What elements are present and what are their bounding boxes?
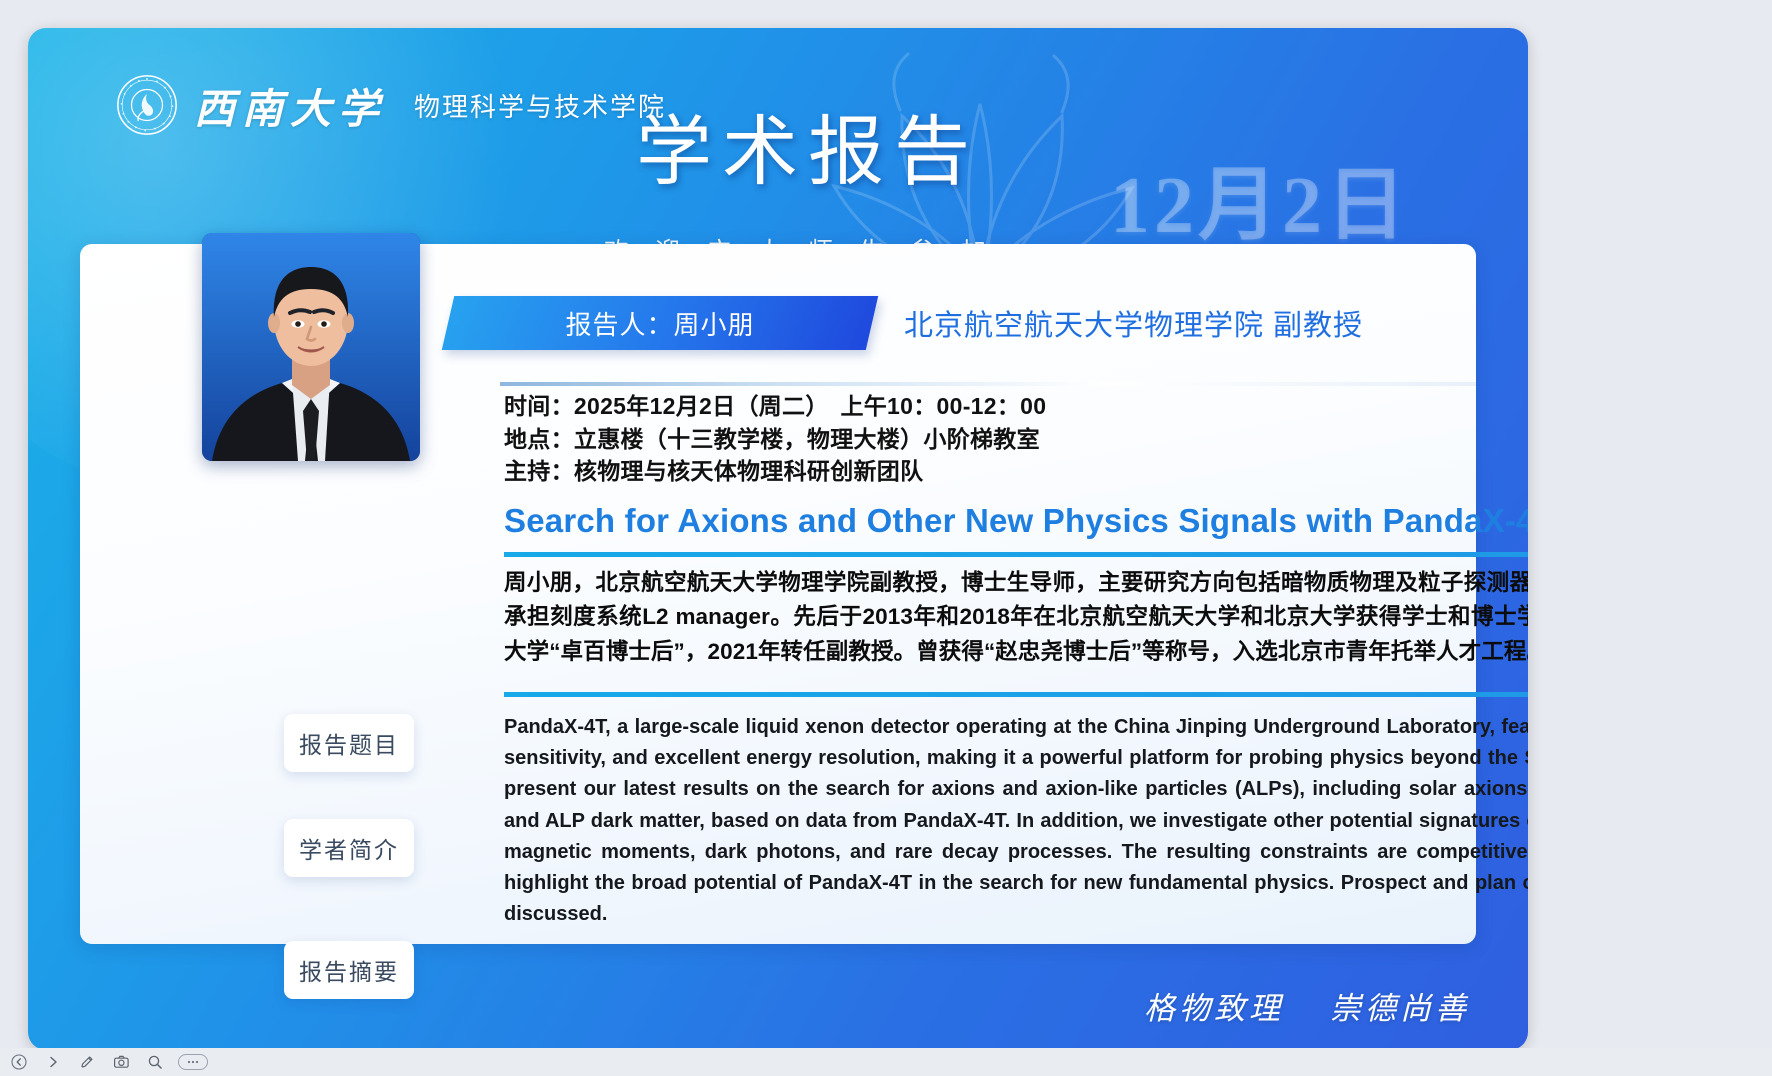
speaker-photo bbox=[202, 233, 420, 461]
motto-left: 格物致理 bbox=[1144, 983, 1284, 1028]
more-options-button[interactable] bbox=[178, 1054, 208, 1070]
camera-icon bbox=[113, 1054, 130, 1070]
content-card: 报告人：周小朋 北京航空航天大学物理学院 副教授 时间：2025年12月2日（周… bbox=[80, 244, 1476, 944]
meta-place: 地点：立惠楼（十三教学楼，物理大楼）小阶梯教室 bbox=[504, 423, 1528, 456]
tag-speaker-bio: 学者简介 bbox=[284, 819, 414, 877]
bottom-toolbar bbox=[0, 1048, 1772, 1076]
zoom-button[interactable] bbox=[144, 1051, 166, 1073]
speaker-bio: 周小朋，北京航空航天大学物理学院副教授，博士生导师，主要研究方向包括暗物质物理及… bbox=[504, 566, 1528, 669]
event-meta: 时间：2025年12月2日（周二） 上午10：00-12：00 地点：立惠楼（十… bbox=[504, 390, 1528, 488]
divider-cyan-top bbox=[504, 552, 1528, 557]
talk-abstract: PandaX-4T, a large-scale liquid xenon de… bbox=[504, 712, 1528, 930]
text-column: 时间：2025年12月2日（周二） 上午10：00-12：00 地点：立惠楼（十… bbox=[500, 244, 1476, 944]
pencil-icon bbox=[79, 1054, 95, 1070]
motto-right: 崇德尚善 bbox=[1330, 983, 1470, 1028]
document-viewer: 西南大学 物理科学与技术学院 学术报告 12月2日 欢迎广大师生参加 bbox=[0, 0, 1772, 1076]
talk-title: Search for Axions and Other New Physics … bbox=[504, 502, 1528, 540]
poster-header: 西南大学 物理科学与技术学院 学术报告 12月2日 欢迎广大师生参加 bbox=[28, 28, 1528, 260]
meta-host: 主持：核物理与核天体物理科研创新团队 bbox=[504, 455, 1528, 488]
snapshot-button[interactable] bbox=[110, 1051, 132, 1073]
tag-talk-title: 报告题目 bbox=[284, 714, 414, 772]
footer-motto: 格物致理 崇德尚善 bbox=[1144, 983, 1470, 1028]
chevron-left-icon bbox=[11, 1054, 27, 1070]
next-page-button[interactable] bbox=[42, 1051, 64, 1073]
ellipsis-icon bbox=[184, 1058, 202, 1066]
magnifier-icon bbox=[147, 1054, 163, 1070]
poster-page: 西南大学 物理科学与技术学院 学术报告 12月2日 欢迎广大师生参加 bbox=[28, 28, 1528, 1050]
divider-thin bbox=[500, 382, 1476, 386]
chevron-right-icon bbox=[45, 1054, 61, 1070]
tag-abstract: 报告摘要 bbox=[284, 941, 414, 999]
previous-page-button[interactable] bbox=[8, 1051, 30, 1073]
meta-time: 时间：2025年12月2日（周二） 上午10：00-12：00 bbox=[504, 390, 1528, 423]
speaker-portrait-icon bbox=[202, 233, 420, 461]
annotate-button[interactable] bbox=[76, 1051, 98, 1073]
divider-cyan-bottom bbox=[504, 692, 1528, 697]
